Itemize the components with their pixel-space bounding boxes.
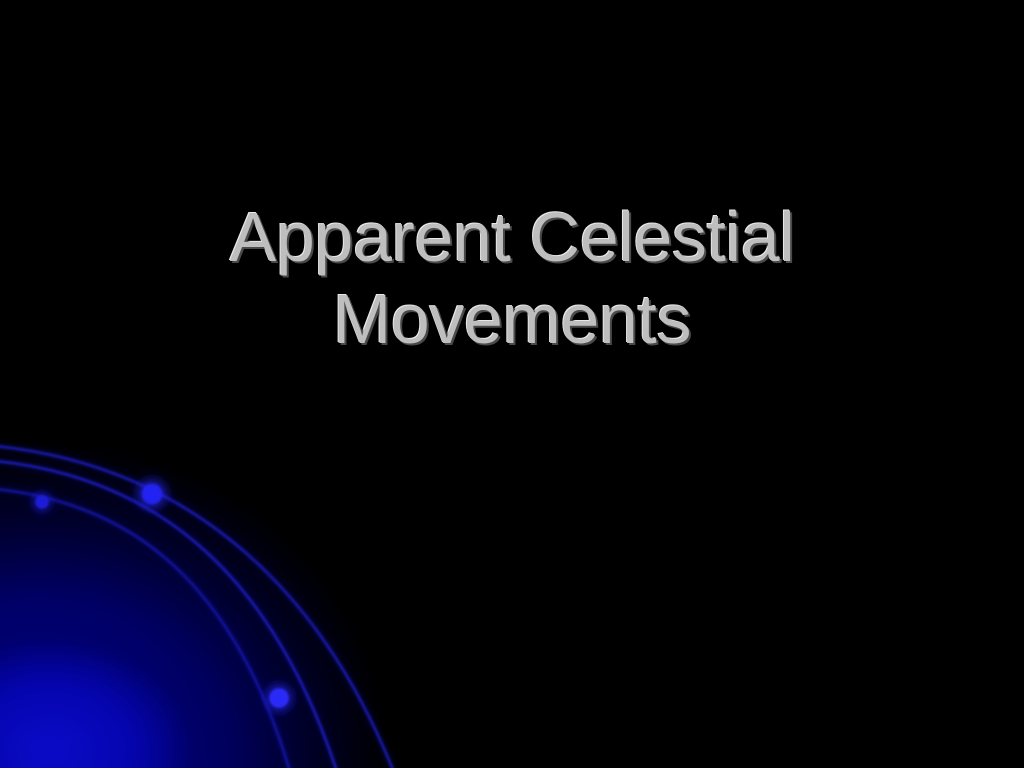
planet-small [27,487,57,517]
slide-title-block: Apparent Celestial Movements [76,196,948,360]
orbit-arcs-graphic [0,0,1024,768]
orbit-arc-inner [0,487,291,768]
orbit-arc-outer [0,444,395,768]
presentation-slide: Apparent Celestial Movements [0,0,1024,768]
orbit-arc-middle [0,459,338,768]
corner-glow-core [0,600,260,768]
slide-background-decoration [0,0,1024,768]
page-title: Apparent Celestial Movements [76,196,948,360]
corner-glow [0,430,440,768]
planet-bottom [259,678,299,718]
planet-large [130,472,174,516]
